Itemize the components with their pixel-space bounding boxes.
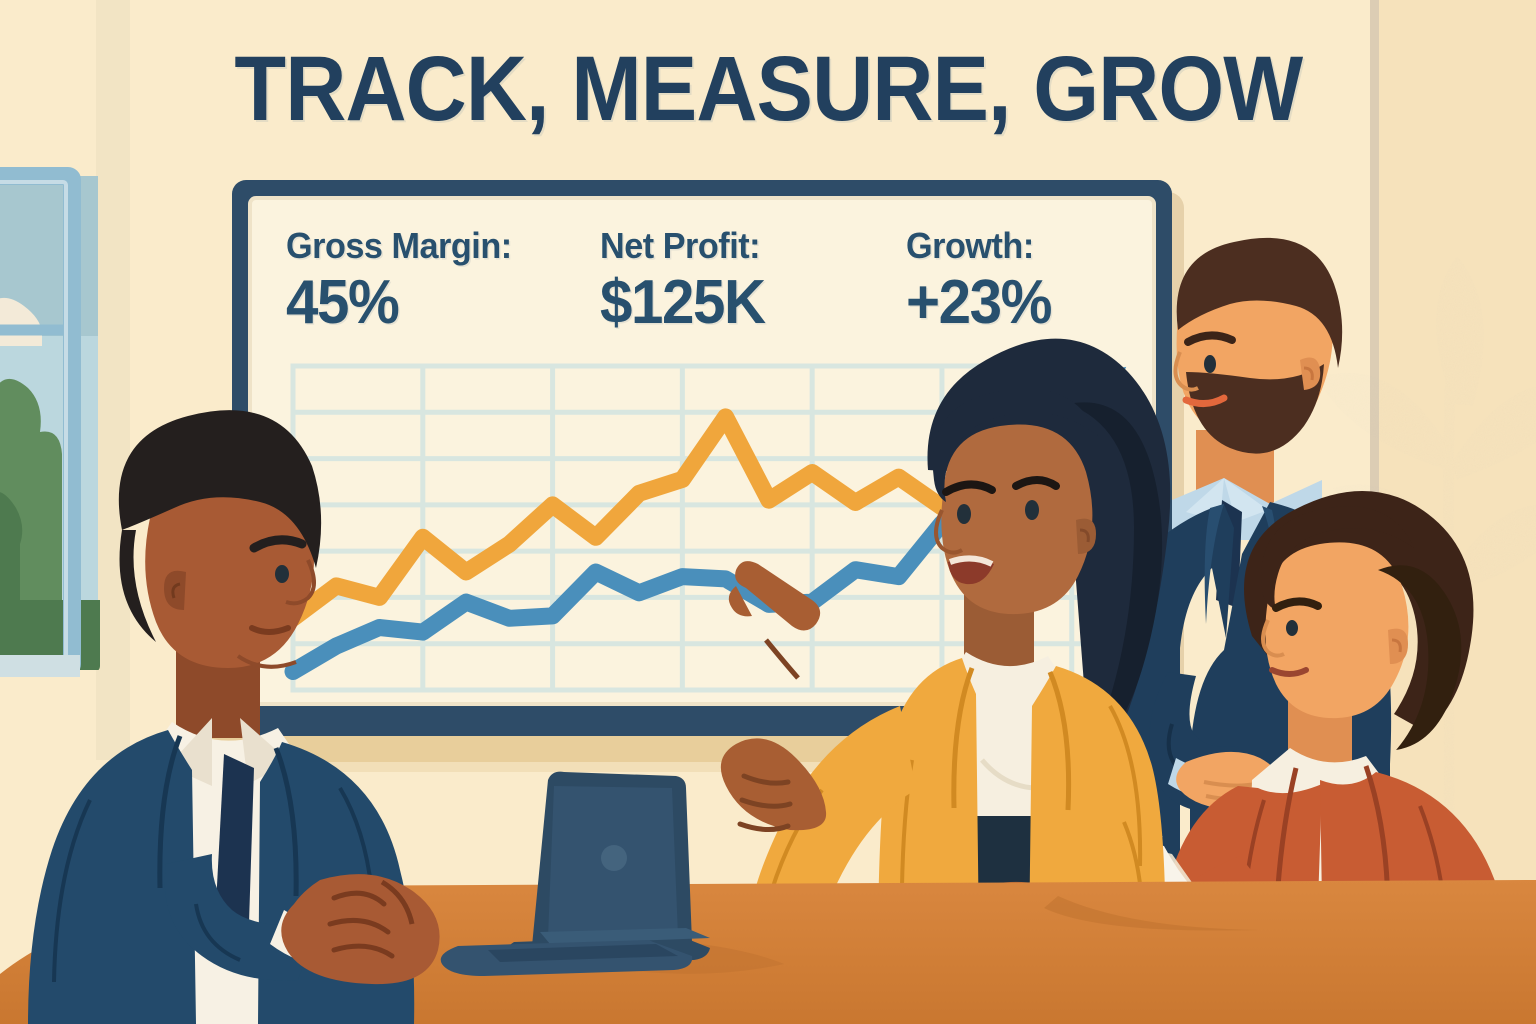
presenter-eye-back — [1025, 500, 1039, 520]
presenter-eye-front — [957, 504, 971, 524]
people-and-foreground-layer — [0, 0, 1536, 1024]
woman-right-eye — [1286, 620, 1298, 636]
woman-right-ear — [1388, 629, 1408, 664]
laptop-logo — [601, 845, 627, 871]
man-right-eye — [1204, 355, 1216, 373]
presenter-index-finger — [735, 561, 820, 630]
illustration-scene: TRACK, MEASURE, GROW Gross Margin: 45% N… — [0, 0, 1536, 1024]
man-left-eye — [275, 565, 289, 583]
seated-man-left — [28, 410, 440, 1024]
presenter-thumb-crease — [766, 640, 798, 678]
presenter-finger-tip — [729, 586, 752, 616]
